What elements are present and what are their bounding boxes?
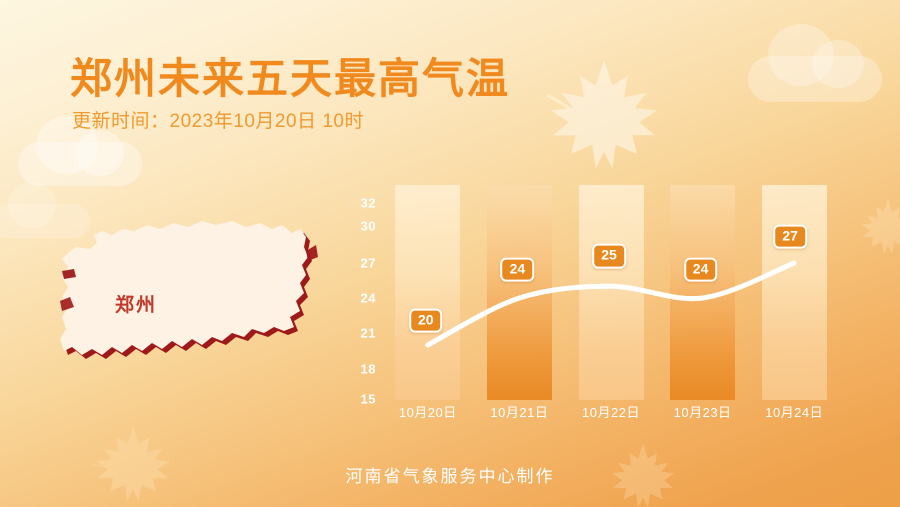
footer-credit: 河南省气象服务中心制作 xyxy=(0,462,900,487)
y-axis-tick: 15 xyxy=(361,392,376,407)
map-city-label: 郑州 xyxy=(115,290,157,317)
x-axis-tick: 10月20日 xyxy=(399,402,457,421)
y-axis-tick: 27 xyxy=(361,256,376,271)
y-axis-tick: 21 xyxy=(361,326,376,341)
temperature-value-badge: 24 xyxy=(501,258,535,282)
x-axis-tick: 10月22日 xyxy=(582,402,640,421)
weather-infographic: 郑州未来五天最高气温 更新时间：2023年10月20日 10时 郑州 15182… xyxy=(0,0,900,507)
temperature-chart: 15182124273032 2024252427 10月20日10月21日10… xyxy=(340,185,840,425)
henan-province-map xyxy=(60,215,350,415)
update-time-text: 更新时间：2023年10月20日 10时 xyxy=(72,106,364,133)
chart-x-axis: 10月20日10月21日10月22日10月23日10月24日 xyxy=(382,402,840,426)
y-axis-tick: 24 xyxy=(361,291,376,306)
y-axis-tick: 30 xyxy=(361,219,376,234)
maple-leaf-decoration-top xyxy=(545,55,663,180)
page-title: 郑州未来五天最高气温 xyxy=(70,45,510,106)
chart-y-axis: 15182124273032 xyxy=(340,185,376,400)
temperature-value-badge: 27 xyxy=(773,225,807,249)
temperature-value-badge: 24 xyxy=(684,258,718,282)
y-axis-tick: 18 xyxy=(361,362,376,377)
chart-plot-area: 2024252427 xyxy=(382,185,840,400)
temperature-line xyxy=(382,185,840,400)
x-axis-tick: 10月23日 xyxy=(674,402,732,421)
temperature-value-badge: 25 xyxy=(592,244,626,268)
temperature-value-badge: 20 xyxy=(409,309,443,333)
y-axis-tick: 32 xyxy=(361,196,376,211)
cloud-decoration-top-right xyxy=(742,18,892,104)
x-axis-tick: 10月21日 xyxy=(490,402,548,421)
x-axis-tick: 10月24日 xyxy=(765,402,823,421)
maple-leaf-decoration-right-edge xyxy=(858,196,900,260)
